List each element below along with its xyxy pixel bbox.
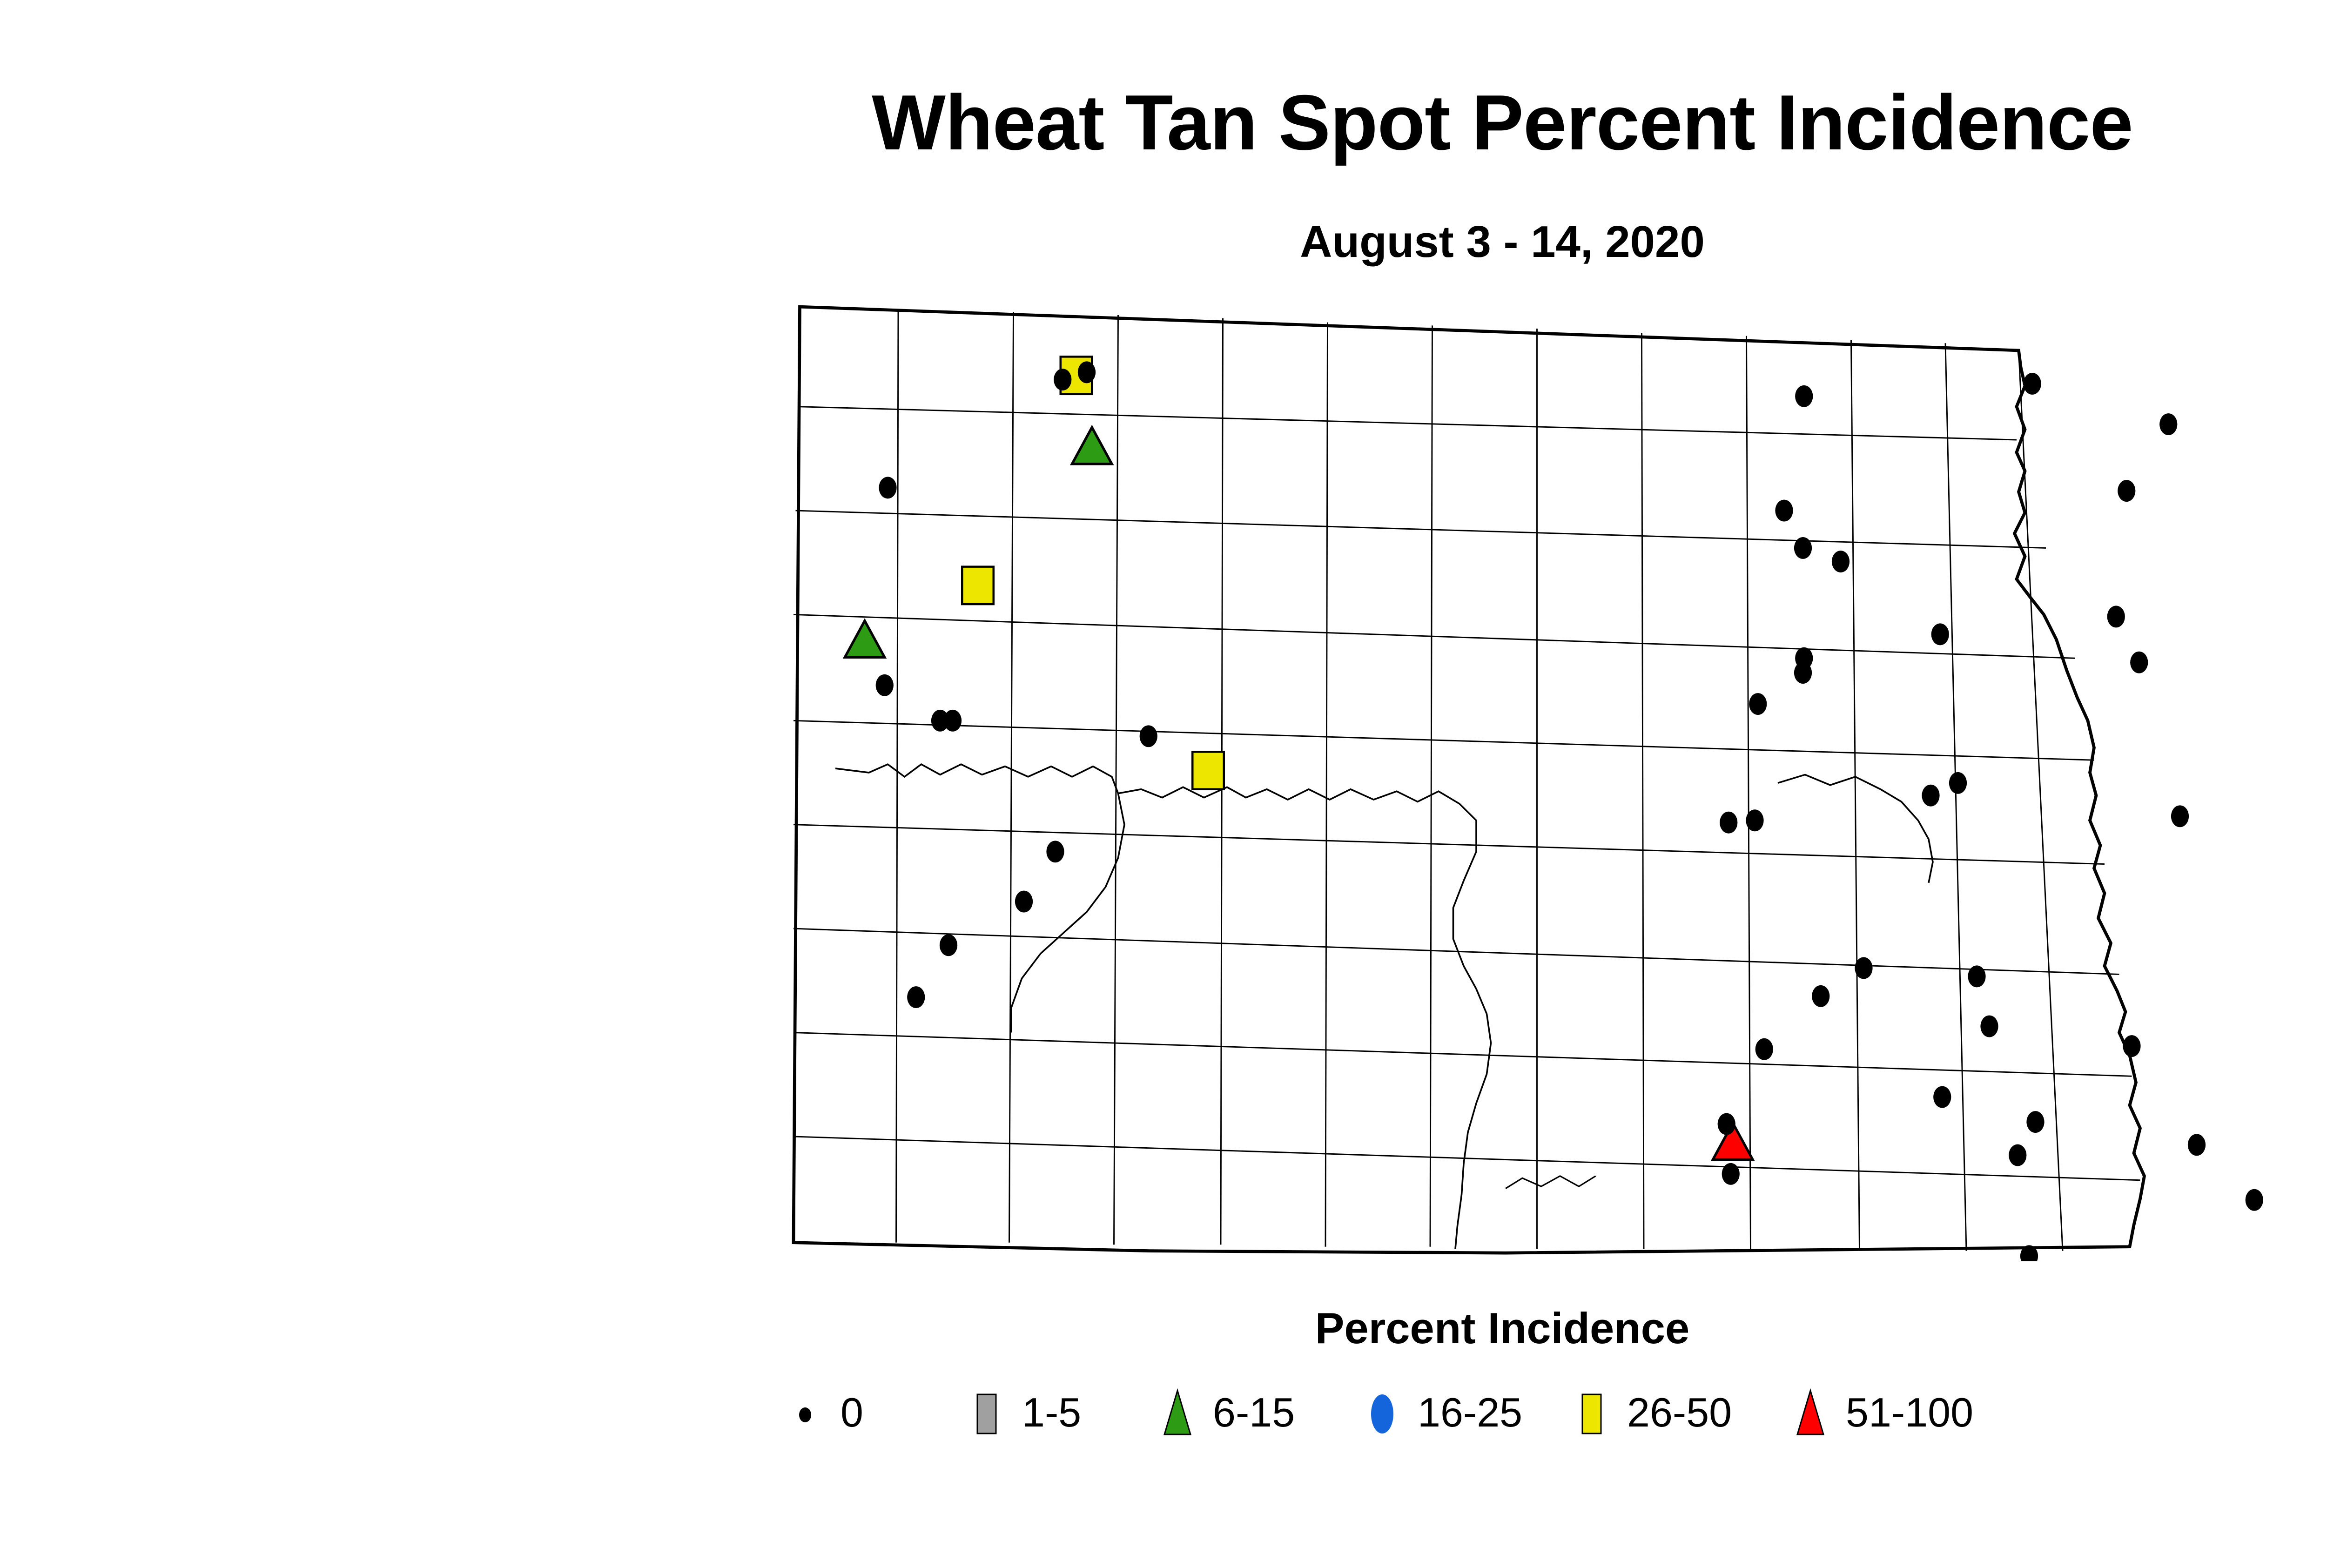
map-marker-0[interactable] bbox=[1931, 623, 1949, 645]
page-subtitle: August 3 - 14, 2020 bbox=[0, 216, 2327, 268]
map-marker-0[interactable] bbox=[2118, 480, 2135, 502]
map-marker-0[interactable] bbox=[1812, 985, 1829, 1007]
legend-label: 26-50 bbox=[1627, 1389, 1732, 1436]
blue-circle-icon-shape bbox=[1371, 1394, 1393, 1433]
blue-circle-icon bbox=[1359, 1382, 1406, 1443]
map-marker-0[interactable] bbox=[1855, 957, 1872, 979]
black-dot-icon bbox=[782, 1382, 828, 1443]
map-marker-0[interactable] bbox=[1046, 841, 1064, 862]
map-marker-0[interactable] bbox=[1746, 809, 1763, 831]
green-triangle-icon-shape bbox=[1164, 1391, 1190, 1434]
map-marker-0[interactable] bbox=[2159, 413, 2177, 435]
legend-item-6-15[interactable]: 6-15 bbox=[1154, 1373, 1295, 1452]
legend-item-1-5[interactable]: 1-5 bbox=[963, 1373, 1081, 1452]
map-marker-0[interactable] bbox=[2246, 1189, 2263, 1211]
county-boundaries bbox=[794, 307, 2145, 1253]
figure-root: Wheat Tan Spot Percent Incidence August … bbox=[0, 0, 2327, 1568]
map-marker-0[interactable] bbox=[1718, 1113, 1735, 1135]
map-marker-0[interactable] bbox=[2026, 1111, 2044, 1133]
yellow-square-icon bbox=[1568, 1382, 1615, 1443]
map-marker-0[interactable] bbox=[1722, 1163, 1740, 1185]
map-marker-0[interactable] bbox=[1775, 500, 1793, 522]
map-marker-0[interactable] bbox=[2123, 1035, 2140, 1057]
north-dakota-map[interactable] bbox=[773, 284, 2327, 1261]
map-marker-0[interactable] bbox=[944, 710, 962, 732]
map-marker-0[interactable] bbox=[1794, 537, 1812, 559]
map-marker-0[interactable] bbox=[1720, 812, 1737, 834]
map-marker-0[interactable] bbox=[1832, 551, 1849, 572]
yellow-square-icon-shape bbox=[1582, 1394, 1601, 1433]
map-marker-0[interactable] bbox=[1980, 1016, 1998, 1037]
map-marker-0[interactable] bbox=[1015, 891, 1033, 913]
map-marker-0[interactable] bbox=[1933, 1086, 1951, 1108]
map-marker-0[interactable] bbox=[2024, 373, 2041, 395]
map-marker-0[interactable] bbox=[1949, 772, 1967, 794]
map-marker-0[interactable] bbox=[2107, 606, 2125, 627]
map-marker-26-50[interactable] bbox=[1192, 752, 1224, 789]
map-marker-0[interactable] bbox=[2171, 805, 2189, 827]
map-marker-0[interactable] bbox=[876, 674, 894, 696]
map-marker-0[interactable] bbox=[1054, 369, 1071, 390]
map-marker-0[interactable] bbox=[1795, 385, 1813, 407]
map-marker-0[interactable] bbox=[2130, 652, 2148, 673]
gray-square-icon-shape bbox=[977, 1394, 996, 1433]
legend-label: 6-15 bbox=[1213, 1389, 1295, 1436]
map-marker-0[interactable] bbox=[879, 477, 896, 498]
map-marker-0[interactable] bbox=[1794, 662, 1812, 684]
black-dot-icon-shape bbox=[799, 1407, 811, 1422]
legend-title: Percent Incidence bbox=[0, 1303, 2327, 1353]
page-title: Wheat Tan Spot Percent Incidence bbox=[0, 81, 2327, 163]
legend-label: 16-25 bbox=[1418, 1389, 1522, 1436]
legend-item-26-50[interactable]: 26-50 bbox=[1568, 1373, 1732, 1452]
map-marker-26-50[interactable] bbox=[962, 567, 994, 604]
legend-item-0[interactable]: 0 bbox=[782, 1373, 863, 1452]
legend-item-51-100[interactable]: 51-100 bbox=[1787, 1373, 1973, 1452]
legend-label: 0 bbox=[841, 1389, 863, 1436]
map-marker-0[interactable] bbox=[2188, 1134, 2206, 1156]
map-marker-0[interactable] bbox=[1078, 361, 1096, 383]
red-triangle-icon bbox=[1787, 1382, 1834, 1443]
map-marker-0[interactable] bbox=[1755, 1038, 1773, 1060]
map-marker-0[interactable] bbox=[907, 986, 925, 1008]
legend-item-16-25[interactable]: 16-25 bbox=[1359, 1373, 1522, 1452]
red-triangle-icon-shape bbox=[1797, 1391, 1823, 1434]
legend-label: 1-5 bbox=[1022, 1389, 1081, 1436]
map-marker-0[interactable] bbox=[1749, 693, 1767, 715]
map-marker-0[interactable] bbox=[1140, 725, 1157, 747]
gray-square-icon bbox=[963, 1382, 1010, 1443]
map-marker-0[interactable] bbox=[2009, 1144, 2026, 1166]
map-marker-0[interactable] bbox=[1922, 785, 1939, 807]
legend-label: 51-100 bbox=[1846, 1389, 1973, 1436]
map-marker-0[interactable] bbox=[940, 934, 957, 956]
legend[interactable]: 01-56-1516-2526-5051-100 bbox=[782, 1373, 2327, 1452]
map-svg[interactable] bbox=[773, 284, 2327, 1261]
green-triangle-icon bbox=[1154, 1382, 1201, 1443]
map-marker-0[interactable] bbox=[1968, 965, 1985, 987]
